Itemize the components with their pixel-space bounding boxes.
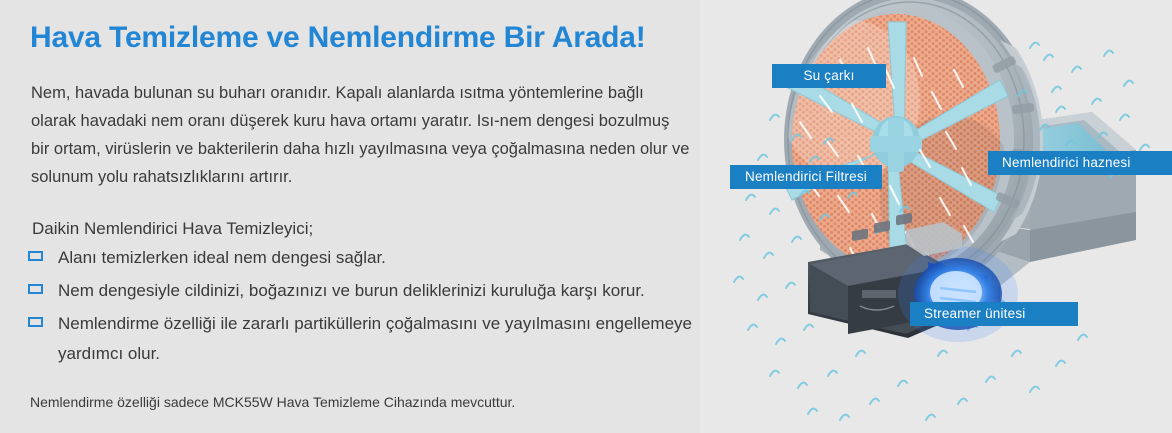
list-item-label: Nemlendirme özelliği ile zararlı partikü…	[58, 309, 698, 369]
humidifier-cutaway-graphic	[700, 0, 1172, 433]
promo-banner: Hava Temizleme ve Nemlendirme Bir Arada!…	[0, 0, 1172, 433]
list-item: Nemlendirme özelliği ile zararlı partikü…	[28, 309, 698, 369]
intro-paragraph: Nem, havada bulunan su buharı oranıdır. …	[31, 79, 691, 191]
checkbox-icon	[28, 251, 43, 261]
product-illustration: Su çarkı Nemlendirici Filtresi Nemlendir…	[700, 0, 1172, 433]
checkbox-icon	[28, 317, 43, 327]
callout-streamer-unitesi: Streamer ünitesi	[910, 302, 1078, 326]
callout-su-carki: Su çarkı	[772, 64, 886, 88]
callout-nemlendirici-filtresi: Nemlendirici Filtresi	[730, 165, 882, 189]
list-item-label: Alanı temizlerken ideal nem dengesi sağl…	[58, 243, 698, 273]
list-item: Alanı temizlerken ideal nem dengesi sağl…	[28, 243, 698, 273]
checkbox-icon	[28, 284, 43, 294]
list-item-label: Nem dengesiyle cildinizi, boğazınızı ve …	[58, 276, 698, 306]
callout-nemlendirici-haznesi: Nemlendirici haznesi	[988, 151, 1172, 175]
footnote: Nemlendirme özelliği sadece MCK55W Hava …	[30, 392, 515, 412]
feature-list-heading: Daikin Nemlendirici Hava Temizleyici;	[32, 216, 313, 242]
feature-list: Alanı temizlerken ideal nem dengesi sağl…	[28, 243, 698, 372]
text-column: Hava Temizleme ve Nemlendirme Bir Arada!…	[0, 0, 720, 433]
page-title: Hava Temizleme ve Nemlendirme Bir Arada!	[30, 21, 646, 55]
list-item: Nem dengesiyle cildinizi, boğazınızı ve …	[28, 276, 698, 306]
